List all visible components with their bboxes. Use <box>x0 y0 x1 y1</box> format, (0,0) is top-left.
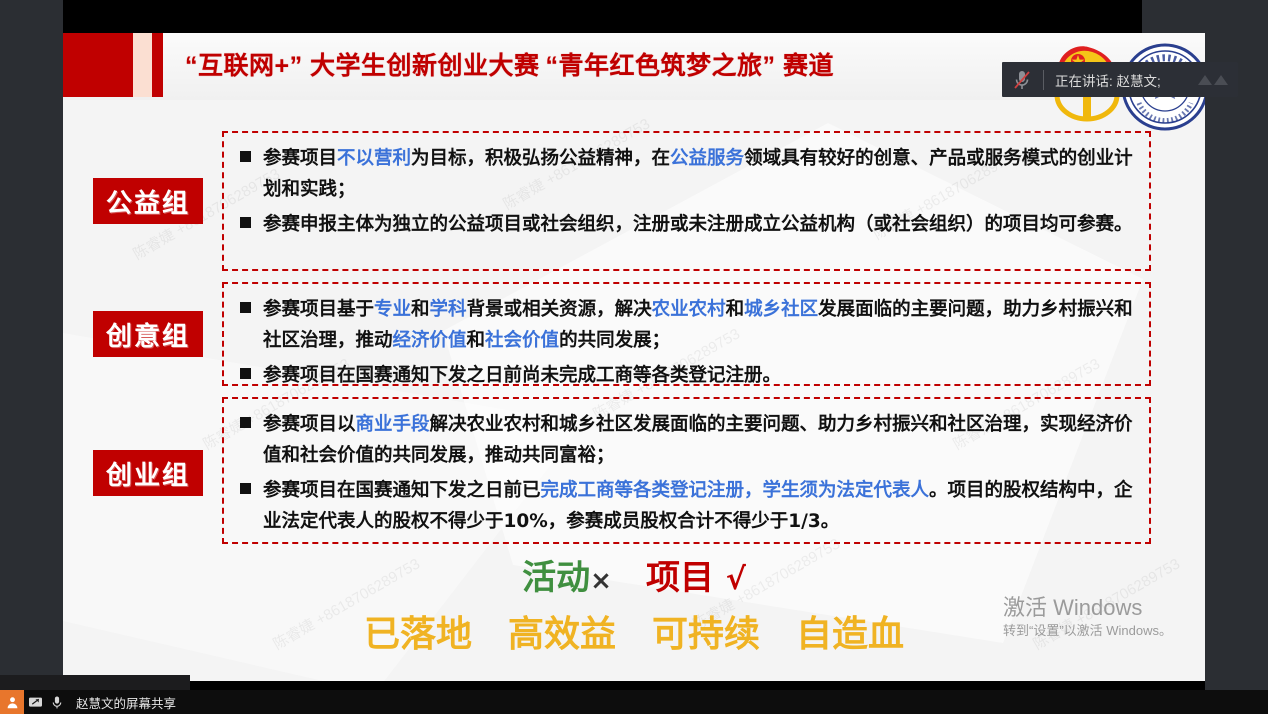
slogan-keyword: 高效益 <box>508 614 616 655</box>
body-text-run: 参赛项目基于 <box>263 299 374 320</box>
header-red-block <box>63 33 133 97</box>
highlighted-term: 学科 <box>430 299 467 320</box>
slogan-positive-word: 项目 <box>646 558 714 598</box>
bullet-square-icon <box>240 483 251 494</box>
taskbar-side-strip <box>0 675 190 690</box>
bullet-text: 参赛项目基于专业和学科背景或相关资源，解决农业农村和城乡社区发展面临的主要问题，… <box>263 294 1137 356</box>
highlighted-term: 不以营利 <box>337 148 411 169</box>
body-text-run: 和 <box>467 330 486 351</box>
speaking-divider <box>1043 70 1044 90</box>
bullet-square-icon <box>240 417 251 428</box>
slogan-keyword: 可持续 <box>652 614 760 655</box>
body-text-run: 和 <box>726 299 745 320</box>
content-box-gongyi: 参赛项目不以营利为目标，积极弘扬公益精神，在公益服务领域具有较好的创意、产品或服… <box>222 131 1151 271</box>
highlighted-term: 专业 <box>374 299 411 320</box>
collapse-chevrons-icon[interactable] <box>1196 72 1230 88</box>
slide-title-part2: “青年红色筑梦之旅” 赛道 <box>546 52 834 80</box>
speaking-indicator[interactable]: 正在讲话: 赵慧文; <box>1002 62 1238 97</box>
bullet-item: 参赛项目在国赛通知下发之日前尚未完成工商等各类登记注册。 <box>232 360 1137 391</box>
body-text-run: 参赛项目 <box>263 148 337 169</box>
mic-muted-icon <box>1012 69 1032 91</box>
content-box-chuangye: 参赛项目以商业手段解决农业农村和城乡社区发展面临的主要问题、助力乡村振兴和社区治… <box>222 397 1151 544</box>
taskbar[interactable]: 赵慧文的屏幕共享 <box>0 690 1268 714</box>
bullet-item: 参赛项目在国赛通知下发之日前已完成工商等各类登记注册，学生须为法定代表人。项目的… <box>232 475 1137 537</box>
bullet-item: 参赛项目以商业手段解决农业农村和城乡社区发展面临的主要问题、助力乡村振兴和社区治… <box>232 409 1137 471</box>
bullet-item: 参赛项目基于专业和学科背景或相关资源，解决农业农村和城乡社区发展面临的主要问题，… <box>232 294 1137 356</box>
slogan-keyword: 已落地 <box>364 614 472 655</box>
group-label-gongyi: 公益组 <box>93 178 203 224</box>
bullet-square-icon <box>240 368 251 379</box>
shared-screen-slide[interactable]: 陈睿婕 +8618706289753 陈睿婕 +8618706289753 陈睿… <box>63 33 1205 681</box>
body-text-run: 参赛申报主体为独立的公益项目或社会组织，注册或未注册成立公益机构（或社会组织）的… <box>263 214 1133 235</box>
slogan-row-primary: 活动×项目 √ <box>63 550 1205 599</box>
slogan-check-mark: √ <box>726 562 746 597</box>
speaking-label: 正在讲话: 赵慧文; <box>1055 70 1161 90</box>
highlighted-term: 农业农村 <box>652 299 726 320</box>
microphone-icon[interactable] <box>46 690 68 714</box>
header-pink-block <box>133 33 152 97</box>
bullet-square-icon <box>240 151 251 162</box>
slide-title: “互联网+” 大学生创新创业大赛“青年红色筑梦之旅” 赛道 <box>185 46 834 82</box>
person-icon[interactable] <box>0 690 24 714</box>
highlighted-term: 完成工商等各类登记注册，学生须为法定代表人 <box>541 480 930 501</box>
body-text-run: 背景或相关资源，解决 <box>467 299 652 320</box>
slogan-row-keywords: 已落地高效益可持续自造血 <box>63 605 1205 657</box>
group-label-chuangyi: 创意组 <box>93 311 203 357</box>
body-text-run: 的共同发展； <box>559 330 670 351</box>
body-text-run: 和 <box>411 299 430 320</box>
content-box-chuangyi: 参赛项目基于专业和学科背景或相关资源，解决农业农村和城乡社区发展面临的主要问题，… <box>222 282 1151 386</box>
slogan-x-mark: × <box>590 566 612 596</box>
body-text-run: 参赛项目在国赛通知下发之日前尚未完成工商等各类登记注册。 <box>263 365 781 386</box>
bullet-text: 参赛项目以商业手段解决农业农村和城乡社区发展面临的主要问题、助力乡村振兴和社区治… <box>263 409 1137 471</box>
bullet-text: 参赛项目在国赛通知下发之日前已完成工商等各类登记注册，学生须为法定代表人。项目的… <box>263 475 1137 537</box>
highlighted-term: 商业手段 <box>356 414 430 435</box>
body-text-run: 参赛项目在国赛通知下发之日前已 <box>263 480 541 501</box>
screen-share-status-text: 赵慧文的屏幕共享 <box>76 693 176 712</box>
header-red-bar <box>152 33 163 97</box>
slogan-negative-word: 活动 <box>522 558 590 598</box>
bullet-item: 参赛项目不以营利为目标，积极弘扬公益精神，在公益服务领域具有较好的创意、产品或服… <box>232 143 1137 205</box>
slogan-keyword: 自造血 <box>796 614 904 655</box>
slide-title-part1: “互联网+” 大学生创新创业大赛 <box>185 52 540 80</box>
bullet-square-icon <box>240 217 251 228</box>
group-label-chuangye: 创业组 <box>93 450 203 496</box>
bullet-text: 参赛项目在国赛通知下发之日前尚未完成工商等各类登记注册。 <box>263 360 781 391</box>
bullet-text: 参赛申报主体为独立的公益项目或社会组织，注册或未注册成立公益机构（或社会组织）的… <box>263 209 1133 240</box>
bullet-item: 参赛申报主体为独立的公益项目或社会组织，注册或未注册成立公益机构（或社会组织）的… <box>232 209 1137 240</box>
bullet-text: 参赛项目不以营利为目标，积极弘扬公益精神，在公益服务领域具有较好的创意、产品或服… <box>263 143 1137 205</box>
screen-share-icon[interactable] <box>24 690 46 714</box>
letterbox-top <box>63 0 1142 33</box>
body-text-run: 参赛项目以 <box>263 414 356 435</box>
body-text-run: 为目标，积极弘扬公益精神，在 <box>411 148 670 169</box>
highlighted-term: 经济价值 <box>393 330 467 351</box>
highlighted-term: 城乡社区 <box>744 299 818 320</box>
bullet-square-icon <box>240 302 251 313</box>
highlighted-term: 公益服务 <box>670 148 744 169</box>
highlighted-term: 社会价值 <box>485 330 559 351</box>
